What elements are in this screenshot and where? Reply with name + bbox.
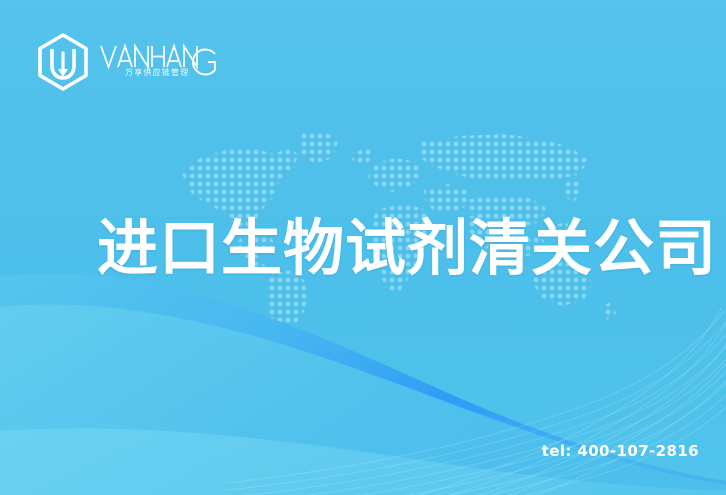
hexagon-u-mark-icon: [36, 33, 90, 91]
brand-logo[interactable]: 万享供应链管理: [36, 33, 217, 91]
page-title: 进口生物试剂清关公司: [97, 218, 717, 279]
brand-subtitle: 万享供应链管理: [125, 67, 189, 78]
contact-phone: tel: 400-107-2816: [542, 442, 699, 460]
brand-wordmark: 万享供应链管理: [99, 40, 217, 84]
promo-banner: 万享供应链管理 进口生物试剂清关公司 tel: 400-107-2816: [0, 0, 726, 495]
